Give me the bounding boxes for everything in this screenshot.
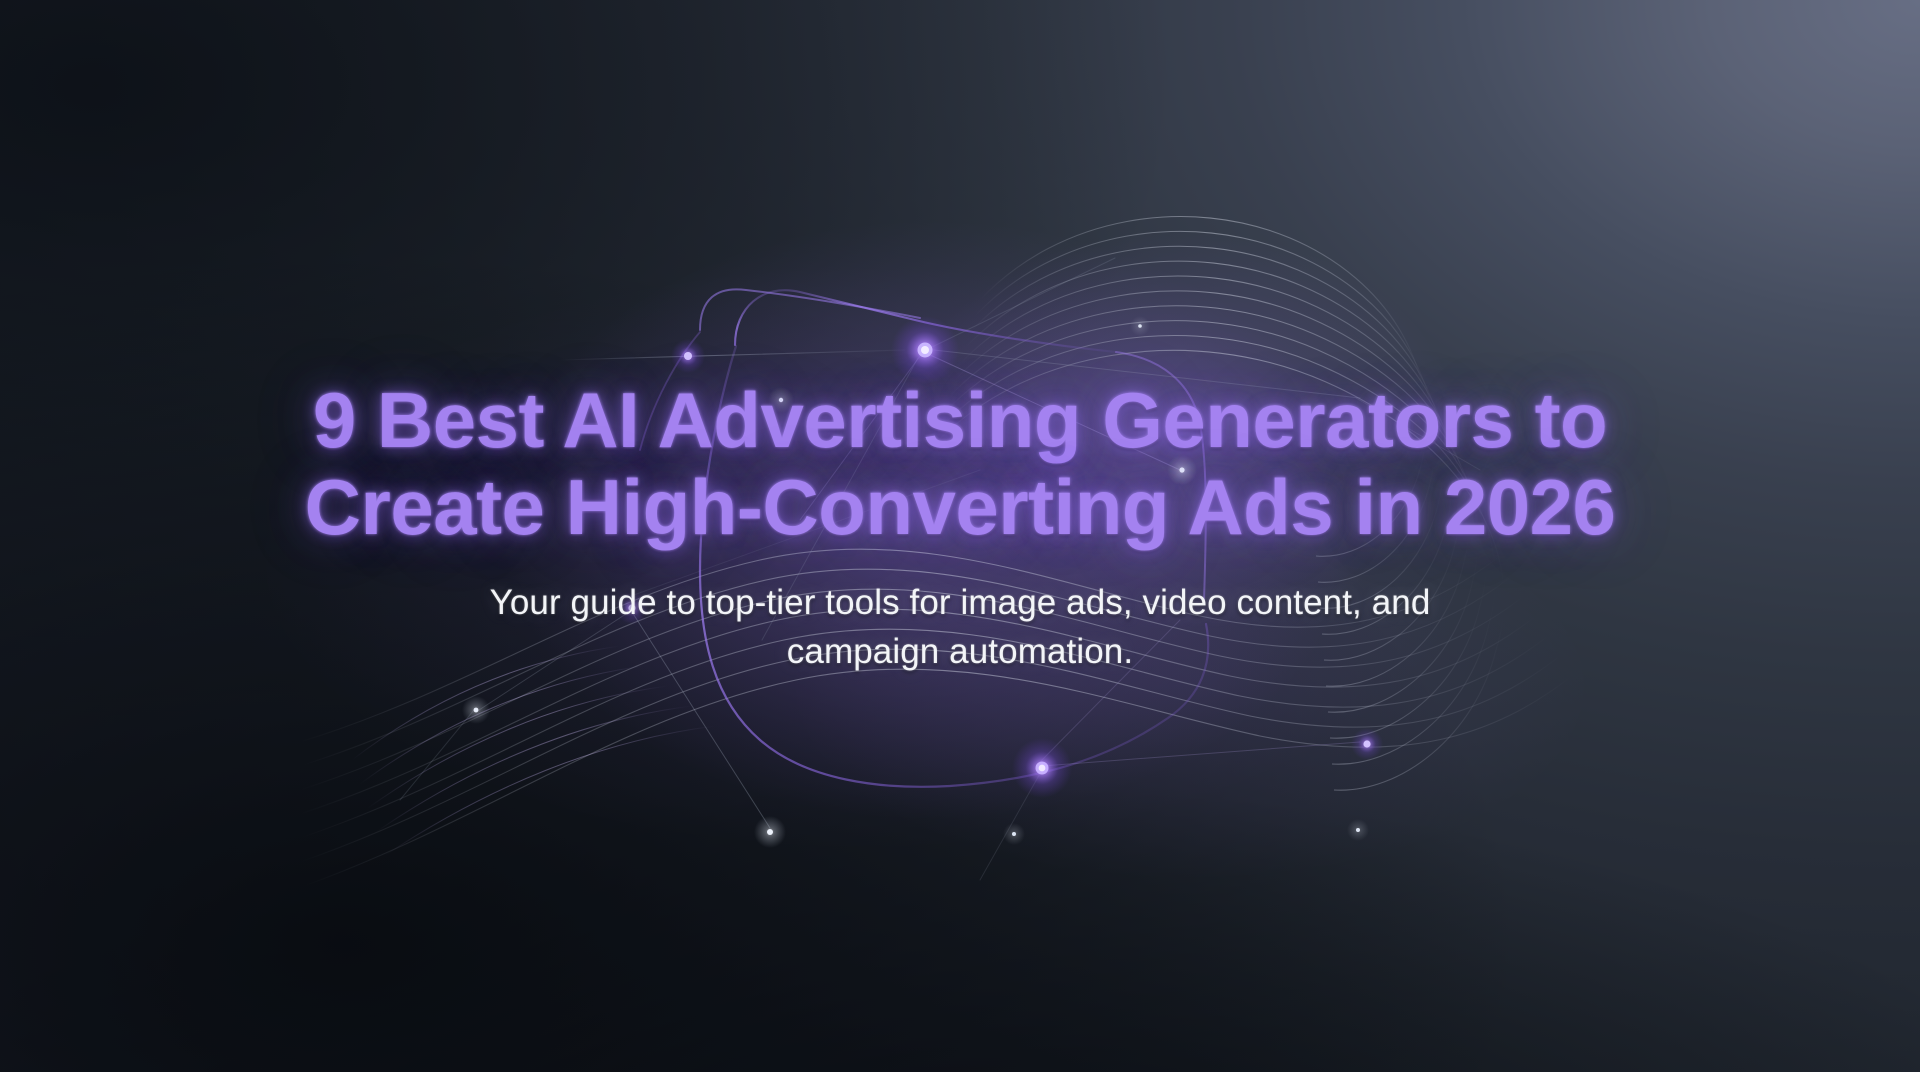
page-subtitle-line-2: campaign automation. bbox=[180, 627, 1740, 677]
hero-text-block: 9 Best AI Advertising Generators to Crea… bbox=[0, 0, 1920, 1072]
page-subtitle: Your guide to top-tier tools for image a… bbox=[180, 578, 1740, 677]
page-subtitle-line-1: Your guide to top-tier tools for image a… bbox=[180, 578, 1740, 628]
page-title-line-2: Create High-Converting Ads in 2026 bbox=[180, 464, 1740, 551]
page-title-line-1: 9 Best AI Advertising Generators to bbox=[180, 377, 1740, 464]
hero-banner: 9 Best AI Advertising Generators to Crea… bbox=[0, 0, 1920, 1072]
page-title: 9 Best AI Advertising Generators to Crea… bbox=[180, 377, 1740, 552]
